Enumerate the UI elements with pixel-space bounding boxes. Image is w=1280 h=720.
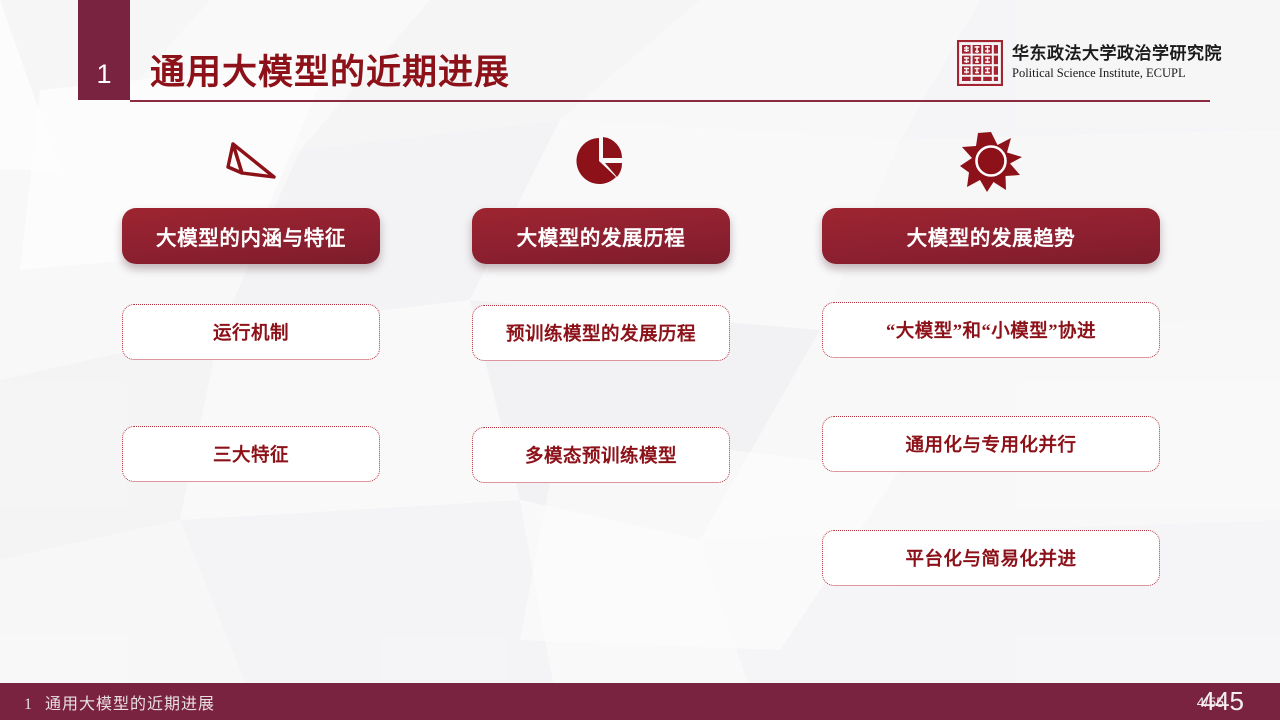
- column-item-list-2: 预训练模型的发展历程 多模态预训练模型: [472, 305, 730, 483]
- institute-logo: 华东政法大学政治学研究院 Political Science Institute…: [957, 40, 1222, 86]
- list-item[interactable]: 三大特征: [122, 426, 380, 482]
- pie-chart-icon: [472, 130, 730, 192]
- list-item-label: 运行机制: [213, 319, 289, 345]
- content-column-2: 大模型的发展历程 预训练模型的发展历程 多模态预训练模型: [472, 130, 730, 549]
- logo-text-block: 华东政法大学政治学研究院 Political Science Institute…: [1012, 44, 1222, 81]
- list-item[interactable]: 平台化与简易化并进: [822, 530, 1160, 586]
- section-number-badge: 1: [78, 0, 130, 100]
- list-item[interactable]: 通用化与专用化并行: [822, 416, 1160, 472]
- column-heading-1[interactable]: 大模型的内涵与特征: [122, 208, 380, 264]
- footer-section-label: 1 通用大模型的近期进展: [24, 690, 215, 714]
- slide-canvas: 1 通用大模型的近期进展: [0, 0, 1280, 720]
- list-item[interactable]: 运行机制: [122, 304, 380, 360]
- paper-plane-icon: [122, 130, 380, 192]
- list-item-label: 多模态预训练模型: [525, 442, 677, 468]
- footer-section-title: 通用大模型的近期进展: [45, 696, 215, 713]
- footer-section-number: 1: [24, 696, 33, 713]
- column-heading-2[interactable]: 大模型的发展历程: [472, 208, 730, 264]
- page-title: 通用大模型的近期进展: [150, 44, 510, 95]
- list-item-label: “大模型”和“小模型”协进: [886, 317, 1096, 343]
- header-divider: [130, 100, 1210, 102]
- column-heading-label: 大模型的发展历程: [517, 221, 686, 251]
- content-column-1: 大模型的内涵与特征 运行机制 三大特征: [122, 130, 380, 548]
- list-item[interactable]: 预训练模型的发展历程: [472, 305, 730, 361]
- column-heading-label: 大模型的发展趋势: [907, 221, 1076, 251]
- list-item-label: 平台化与简易化并进: [905, 545, 1076, 571]
- logo-name-en: Political Science Institute, ECUPL: [1012, 66, 1222, 82]
- list-item-label: 预训练模型的发展历程: [506, 320, 696, 346]
- column-heading-label: 大模型的内涵与特征: [156, 221, 346, 251]
- slide-header: 1 通用大模型的近期进展: [0, 0, 1280, 110]
- column-item-list-1: 运行机制 三大特征: [122, 304, 380, 482]
- list-item[interactable]: 多模态预训练模型: [472, 427, 730, 483]
- list-item[interactable]: “大模型”和“小模型”协进: [822, 302, 1160, 358]
- content-column-3: 大模型的发展趋势 “大模型”和“小模型”协进 通用化与专用化并行 平台化与简易化…: [822, 130, 1160, 644]
- sun-burst-icon: [822, 130, 1160, 192]
- column-item-list-3: “大模型”和“小模型”协进 通用化与专用化并行 平台化与简易化并进: [822, 302, 1160, 586]
- logo-name-cn: 华东政法大学政治学研究院: [1012, 44, 1222, 64]
- slide-footer: 1 通用大模型的近期进展 4/55 445: [0, 683, 1280, 720]
- list-item-label: 通用化与专用化并行: [905, 431, 1076, 457]
- column-heading-3[interactable]: 大模型的发展趋势: [822, 208, 1160, 264]
- seal-stamp-icon: [957, 40, 1003, 86]
- page-number-overlay: 445: [1201, 685, 1244, 716]
- list-item-label: 三大特征: [213, 441, 289, 467]
- section-number-label: 1: [96, 61, 111, 88]
